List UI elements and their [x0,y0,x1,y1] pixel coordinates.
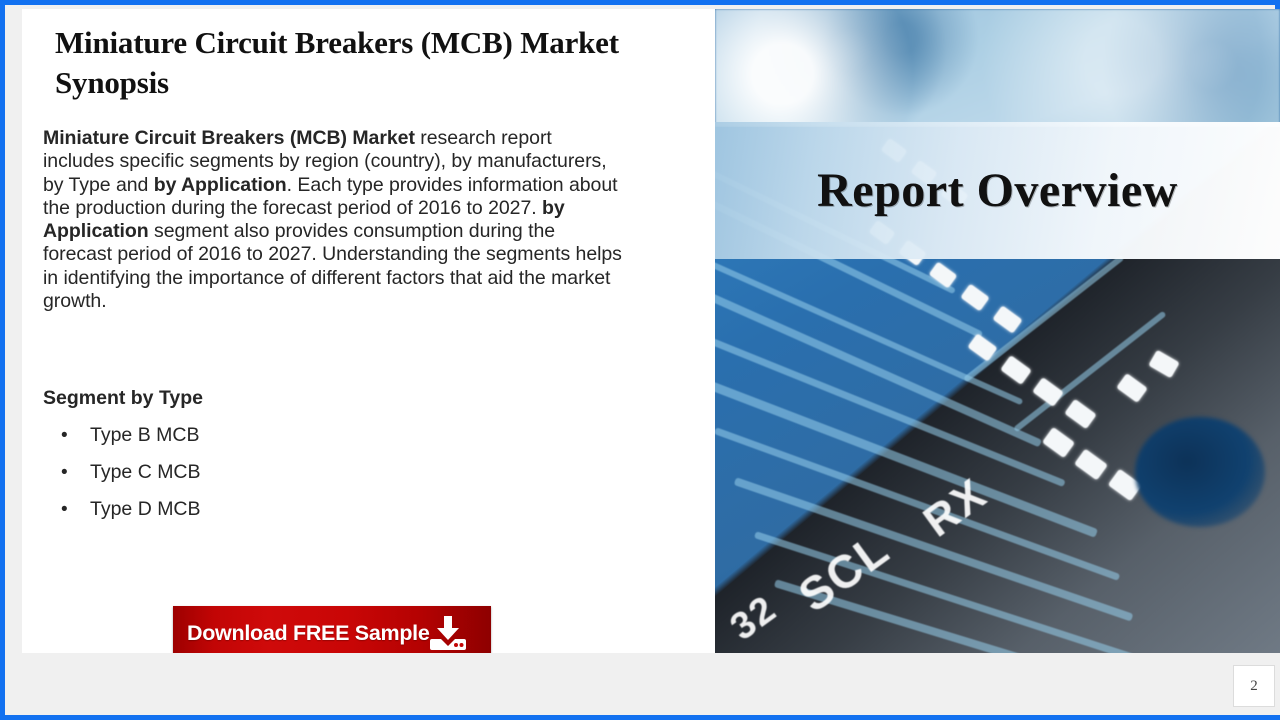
download-tray-icon [429,615,467,651]
body-bold-market: Miniature Circuit Breakers (MCB) Market [43,127,415,149]
list-item-label: Type B MCB [90,424,199,446]
page-number: 2 [1250,678,1258,695]
list-item: • Type C MCB [43,454,443,491]
segment-list: • Type B MCB • Type C MCB • Type D MCB [43,417,443,528]
body-paragraph: Miniature Circuit Breakers (MCB) Market … [43,127,623,313]
report-overview-banner: Report Overview [715,122,1280,259]
segment-heading: Segment by Type [43,387,203,410]
page-title: Miniature Circuit Breakers (MCB) Market … [55,23,695,103]
report-overview-title: Report Overview [817,163,1178,218]
bullet-icon: • [61,454,68,491]
silkscreen-32: 32 [723,588,786,650]
circuit-board-image: RX SCL 32 [715,9,1280,653]
presentation-frame: Miniature Circuit Breakers (MCB) Market … [0,0,1280,720]
list-item: • Type B MCB [43,417,443,454]
bullet-icon: • [61,417,68,454]
list-item-label: Type D MCB [90,498,201,520]
download-button-label: Download FREE Sample [187,621,429,646]
download-free-sample-button[interactable]: Download FREE Sample [173,606,491,653]
slide-text-column: Miniature Circuit Breakers (MCB) Market … [22,9,715,653]
image-top-blur [715,9,1280,127]
list-item: • Type D MCB [43,491,443,528]
bullet-icon: • [61,491,68,528]
list-item-label: Type C MCB [90,461,201,483]
body-bold-application-1: by Application [154,174,287,196]
page-number-box[interactable]: 2 [1233,665,1275,707]
slide-canvas: Miniature Circuit Breakers (MCB) Market … [22,9,1280,653]
slide-footer: 2 [22,653,1280,715]
silkscreen-rx: RX [915,469,997,548]
frame-inner: Miniature Circuit Breakers (MCB) Market … [5,5,1275,715]
